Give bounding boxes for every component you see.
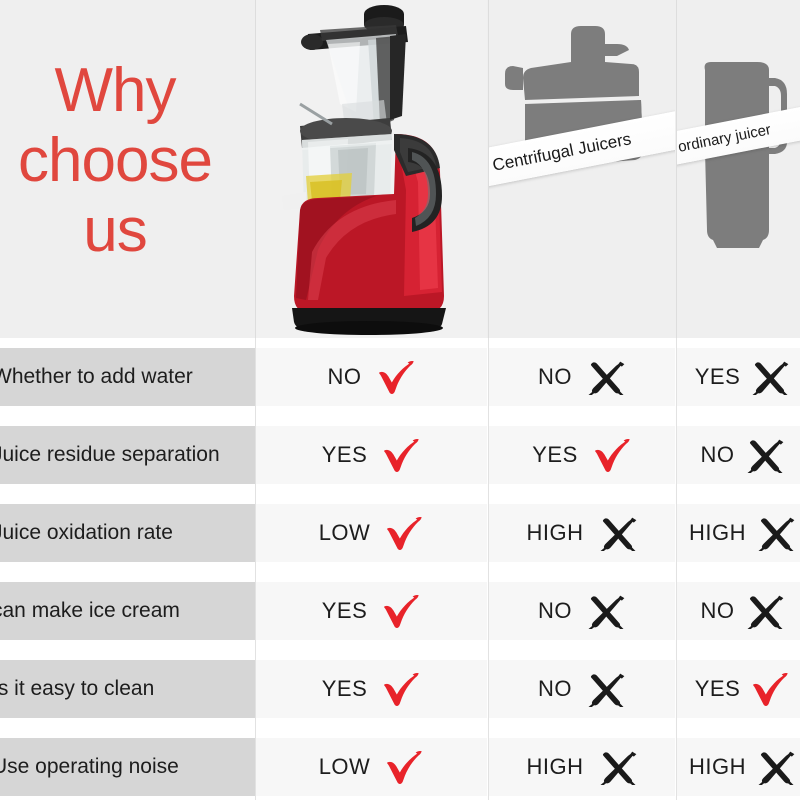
check-icon (384, 515, 424, 552)
comparison-infographic: Why choose us (0, 0, 800, 800)
red-slow-juicer-image (256, 0, 487, 338)
cell-mark (745, 437, 785, 474)
cell-value: NO (328, 364, 362, 390)
row-label-band: Juice oxidation rate (0, 504, 255, 562)
cell-value: NO (538, 676, 572, 702)
cell-mark (381, 437, 421, 474)
cell-value: NO (538, 598, 572, 624)
cell-centrifugal: NO (489, 582, 675, 640)
cell-value: HIGH (527, 520, 584, 546)
column-divider-2 (488, 338, 489, 800)
check-icon (381, 437, 421, 474)
cell-ours: YES (256, 582, 487, 640)
cell-mark (592, 437, 632, 474)
cell-centrifugal: NO (489, 348, 675, 406)
cell-value: YES (322, 442, 368, 468)
header-ordinary-cell: ordinary juicer (677, 0, 800, 338)
row-label-band: Is it easy to clean (0, 660, 255, 718)
cell-ours: NO (256, 348, 487, 406)
table-row: Whether to add waterNONOYES (0, 338, 800, 416)
row-label-band: Use operating noise (0, 738, 255, 796)
cell-mark (756, 515, 796, 552)
row-label-band: Whether to add water (0, 348, 255, 406)
cell-value: YES (695, 676, 741, 702)
header-band: Why choose us (0, 0, 800, 338)
check-icon (592, 437, 632, 474)
cell-ordinary: NO (677, 582, 800, 640)
cross-icon (756, 749, 796, 786)
cross-icon (586, 359, 626, 396)
column-divider-1 (255, 338, 256, 800)
cell-centrifugal: YES (489, 426, 675, 484)
cross-icon (745, 437, 785, 474)
cell-ordinary: YES (677, 348, 800, 406)
row-label: Use operating noise (0, 755, 179, 779)
grey-ordinary-juicer-silhouette (677, 0, 800, 338)
cell-ordinary: YES (677, 660, 800, 718)
cell-value: HIGH (689, 520, 746, 546)
cell-mark (381, 593, 421, 630)
cell-ordinary: HIGH (677, 738, 800, 796)
cell-ours: LOW (256, 504, 487, 562)
cell-value: LOW (319, 754, 371, 780)
row-label-band: Juice residue separation (0, 426, 255, 484)
table-row: can make ice creamYESNONO (0, 572, 800, 650)
cell-mark (745, 593, 785, 630)
row-label: Is it easy to clean (0, 677, 154, 701)
cell-value: YES (532, 442, 578, 468)
cell-centrifugal: HIGH (489, 738, 675, 796)
cross-icon (586, 671, 626, 708)
column-divider-3 (676, 338, 677, 800)
cell-value: YES (322, 676, 368, 702)
row-label: can make ice cream (0, 599, 180, 623)
cell-centrifugal: NO (489, 660, 675, 718)
check-icon (381, 671, 421, 708)
cell-mark (586, 359, 626, 396)
title-line-2: choose (0, 126, 246, 196)
cross-icon (756, 515, 796, 552)
cell-mark (756, 749, 796, 786)
title-line-3: us (0, 196, 246, 266)
cell-mark (598, 515, 638, 552)
header-divider-3 (676, 0, 677, 338)
cell-mark (750, 359, 790, 396)
cell-value: LOW (319, 520, 371, 546)
table-row: Juice residue separationYESYESNO (0, 416, 800, 494)
cell-mark (598, 749, 638, 786)
cross-icon (598, 749, 638, 786)
cell-value: NO (538, 364, 572, 390)
cross-icon (745, 593, 785, 630)
check-icon (750, 671, 790, 708)
header-divider-1 (255, 0, 256, 338)
header-title-cell: Why choose us (0, 0, 255, 338)
cell-mark (376, 359, 416, 396)
cell-ours: YES (256, 660, 487, 718)
cell-centrifugal: HIGH (489, 504, 675, 562)
cell-value: HIGH (527, 754, 584, 780)
cell-ordinary: HIGH (677, 504, 800, 562)
cell-ordinary: NO (677, 426, 800, 484)
row-label-band: can make ice cream (0, 582, 255, 640)
check-icon (376, 359, 416, 396)
cell-mark (384, 515, 424, 552)
cell-mark (586, 593, 626, 630)
check-icon (381, 593, 421, 630)
header-centrifugal-cell: Centrifugal Juicers (489, 0, 675, 338)
comparison-table: Whether to add waterNONOYESJuice residue… (0, 338, 800, 800)
cell-mark (750, 671, 790, 708)
cell-mark (381, 671, 421, 708)
table-row: Juice oxidation rateLOWHIGHHIGH (0, 494, 800, 572)
cross-icon (750, 359, 790, 396)
row-label: Whether to add water (0, 365, 193, 389)
cell-mark (586, 671, 626, 708)
check-icon (384, 749, 424, 786)
page-title: Why choose us (0, 56, 246, 266)
cell-mark (384, 749, 424, 786)
cell-value: NO (701, 442, 735, 468)
table-row: Use operating noiseLOWHIGHHIGH (0, 728, 800, 800)
cross-icon (586, 593, 626, 630)
cell-value: YES (695, 364, 741, 390)
title-line-1: Why (0, 56, 246, 126)
header-divider-2 (488, 0, 489, 338)
cell-value: HIGH (689, 754, 746, 780)
cell-ours: LOW (256, 738, 487, 796)
cross-icon (598, 515, 638, 552)
table-row: Is it easy to cleanYESNOYES (0, 650, 800, 728)
cell-value: NO (701, 598, 735, 624)
row-label: Juice residue separation (0, 443, 220, 467)
cell-value: YES (322, 598, 368, 624)
row-label: Juice oxidation rate (0, 521, 173, 545)
cell-ours: YES (256, 426, 487, 484)
header-our-product-cell (256, 0, 487, 338)
